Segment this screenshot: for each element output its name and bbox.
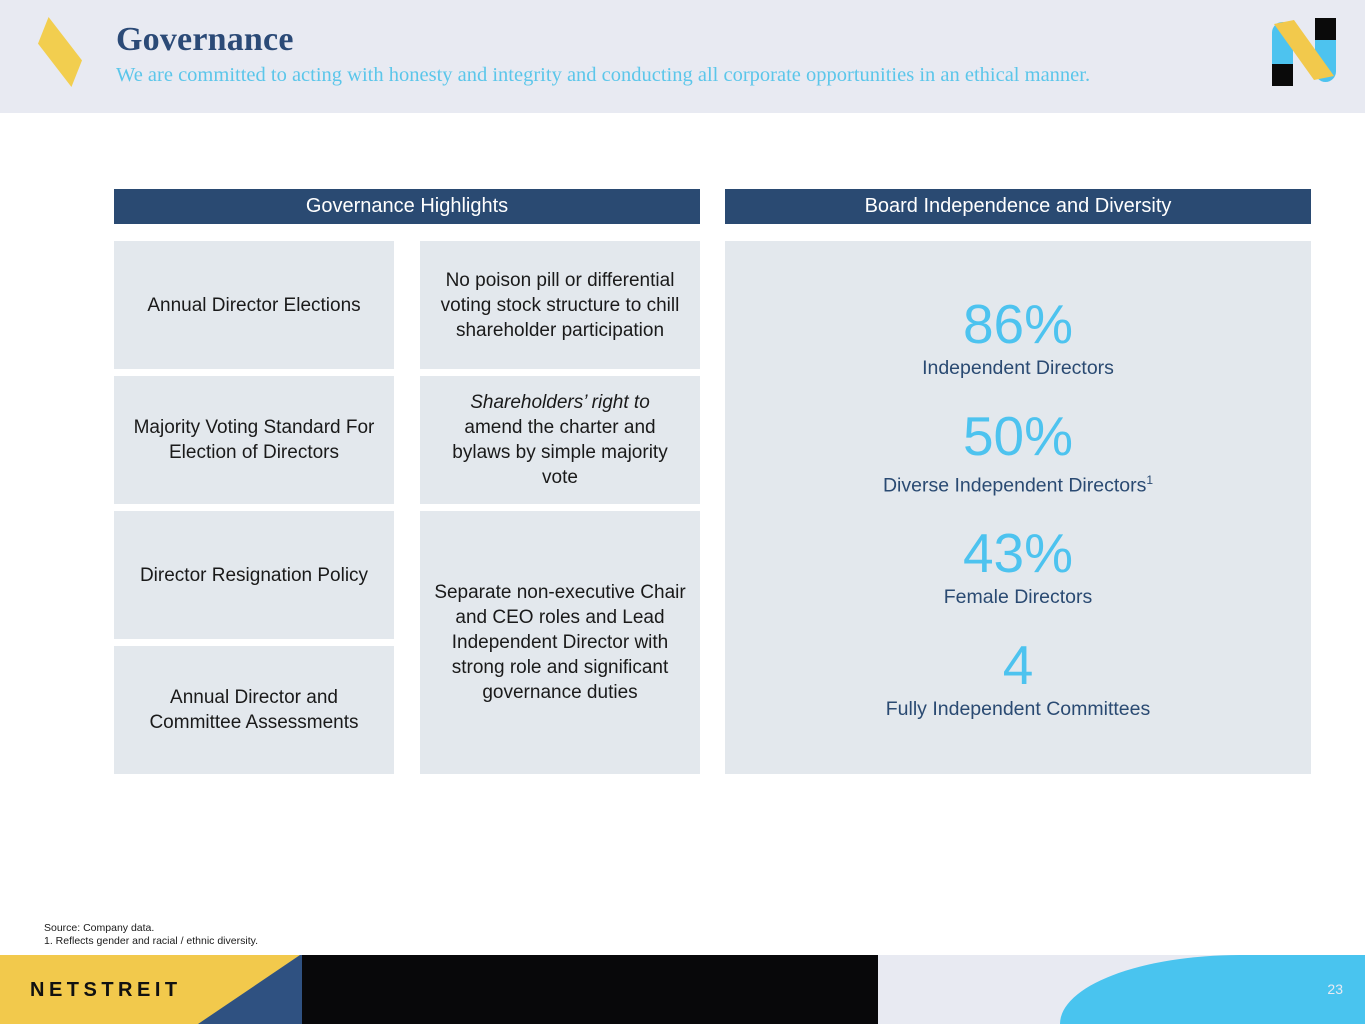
highlight-card: Shareholders’ right to amend the charter…: [420, 376, 700, 504]
netstreit-wordmark: NETSTREIT: [30, 979, 182, 1002]
highlight-card: No poison pill or differential voting st…: [420, 241, 700, 369]
highlight-card: Majority Voting Standard For Election of…: [114, 376, 394, 504]
board-independence-panel: 86% Independent Directors 50% Diverse In…: [725, 241, 1311, 774]
stat-block: 43% Female Directors: [725, 522, 1311, 610]
yellow-slash-accent-icon: [38, 17, 82, 87]
section-header-governance-highlights: Governance Highlights: [114, 189, 700, 224]
stat-block: 50% Diverse Independent Directors1: [725, 405, 1311, 499]
footnote-line: 1. Reflects gender and racial / ethnic d…: [44, 935, 258, 948]
highlight-card: Annual Director Elections: [114, 241, 394, 369]
page-subtitle: We are committed to acting with honesty …: [116, 63, 1231, 87]
stat-value: 50%: [725, 405, 1311, 467]
source-line: Source: Company data.: [44, 922, 258, 935]
highlight-card-text: Annual Director and Committee Assessment…: [128, 685, 380, 735]
highlight-card-text-rest: amend the charter and bylaws by simple m…: [434, 415, 686, 490]
highlight-card-text: Separate non-executive Chair and CEO rol…: [434, 580, 686, 705]
stat-value: 43%: [725, 522, 1311, 584]
stat-block: 86% Independent Directors: [725, 293, 1311, 381]
stat-value: 4: [725, 634, 1311, 696]
stat-value: 86%: [725, 293, 1311, 355]
highlight-card: Separate non-executive Chair and CEO rol…: [420, 511, 700, 774]
source-notes: Source: Company data. 1. Reflects gender…: [44, 922, 258, 948]
footer-cyan-curve: [1060, 955, 1365, 1024]
highlight-card-text: Majority Voting Standard For Election of…: [128, 415, 380, 465]
page-title: Governance: [116, 21, 294, 59]
stat-label: Diverse Independent Directors1: [725, 467, 1311, 499]
stat-label: Fully Independent Committees: [725, 696, 1311, 722]
highlight-card-text: No poison pill or differential voting st…: [434, 268, 686, 343]
page-number: 23: [1327, 981, 1343, 997]
netstreit-n-logo-icon: [1268, 18, 1340, 86]
highlight-card-text-italic: Shareholders’ right to: [434, 390, 686, 415]
highlight-card: Director Resignation Policy: [114, 511, 394, 639]
footnote-marker: 1: [1146, 473, 1153, 487]
footer-black-block: [300, 955, 878, 1024]
highlight-card-text: Annual Director Elections: [147, 293, 360, 318]
slide-footer: NETSTREIT 23: [0, 955, 1365, 1024]
stat-label: Independent Directors: [725, 355, 1311, 381]
stat-block: 4 Fully Independent Committees: [725, 634, 1311, 722]
slide-header: Governance We are committed to acting wi…: [0, 0, 1365, 113]
section-header-board-independence: Board Independence and Diversity: [725, 189, 1311, 224]
highlight-card-text: Shareholders’ right to amend the charter…: [434, 390, 686, 490]
highlight-card: Annual Director and Committee Assessment…: [114, 646, 394, 774]
highlight-card-text: Director Resignation Policy: [140, 563, 368, 588]
stat-label: Female Directors: [725, 584, 1311, 610]
